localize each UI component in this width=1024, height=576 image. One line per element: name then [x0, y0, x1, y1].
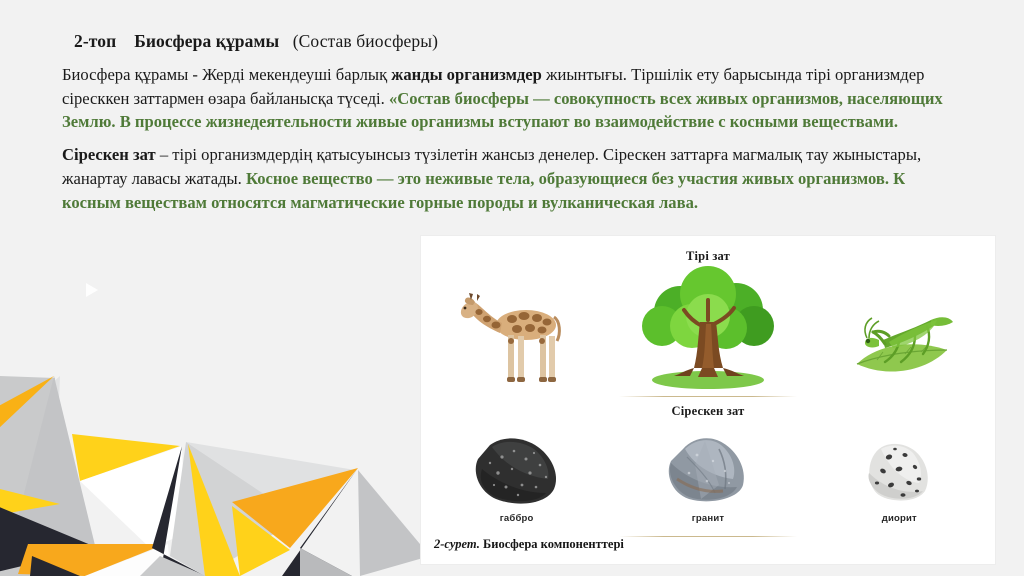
figure-caption-number: 2-сурет.: [434, 537, 480, 551]
group-label: 2-топ: [74, 31, 116, 51]
shard-grey-6: [300, 548, 352, 576]
shard-yellow-1: [0, 376, 54, 446]
shard-grey-2: [0, 376, 60, 576]
caption-diorite: диорит: [882, 513, 917, 524]
shard-yellow-2: [72, 434, 180, 481]
diorite-rock-icon: [857, 437, 941, 509]
divider-rule-middle: [619, 396, 797, 397]
shard-yellow-3: [0, 484, 60, 518]
play-triangle-marker: [86, 283, 98, 297]
shard-dark-2: [30, 556, 80, 576]
shard-grey-4: [170, 442, 300, 576]
shard-orange-1: [18, 544, 165, 576]
shard-grey-5: [358, 470, 430, 576]
shard-grey-7: [140, 556, 206, 576]
slide-canvas: 2-топ Биосфера құрамы (Состав биосферы) …: [0, 0, 1024, 576]
label-inert-matter: Сірескен зат: [421, 404, 995, 419]
paragraph-two: Сірескен зат – тірі организмдердің қатыс…: [62, 143, 967, 215]
divider-rule-bottom: [619, 536, 797, 537]
biosphere-figure-panel: Тірі зат: [421, 236, 995, 564]
polygon-art-svg: [0, 256, 430, 576]
shard-white-2: [85, 544, 170, 576]
shard-yellow-5: [232, 506, 290, 576]
figure-cell-mantis: [805, 294, 994, 393]
p1-segment-1: Биосфера құрамы - Жерді мекендеуші барлы…: [62, 65, 391, 84]
caption-granite: гранит: [692, 513, 724, 524]
title-kazakh: Биосфера құрамы: [134, 31, 279, 51]
slide-text-body: 2-топ Биосфера құрамы (Состав биосферы) …: [62, 30, 967, 218]
shard-dark-3: [152, 446, 205, 576]
praying-mantis-icon: [839, 294, 959, 389]
granite-rock-icon: [659, 433, 757, 509]
shard-grey-cone: [8, 376, 100, 566]
shard-orange-2: [232, 468, 358, 548]
caption-gabbro: габбро: [500, 513, 534, 524]
label-living-matter: Тірі зат: [421, 249, 995, 264]
shard-dark-1: [0, 499, 98, 576]
shard-white-1: [80, 446, 185, 548]
decorative-polygon-artwork: [0, 256, 430, 576]
p2-bold-1: Сірескен зат: [62, 145, 156, 164]
figure-caption-text: Биосфера компоненттері: [480, 537, 624, 551]
living-matter-row: [421, 268, 995, 393]
figure-cell-tree: [613, 264, 802, 393]
figure-cell-granite: гранит: [613, 433, 802, 524]
figure-cell-giraffe: [422, 277, 611, 393]
shard-grey-3: [186, 442, 355, 518]
figure-cell-diorite: диорит: [805, 437, 994, 524]
figure-cell-gabbro: габбро: [422, 433, 611, 524]
inert-matter-row: габбро гранит: [421, 424, 995, 524]
shard-yellow-4: [188, 444, 240, 576]
title-russian: (Состав биосферы): [293, 31, 438, 51]
shard-dark-4: [282, 468, 358, 576]
paragraph-one: Биосфера құрамы - Жерді мекендеуші барлы…: [62, 63, 967, 135]
tree-icon: [628, 264, 788, 389]
page-title: 2-топ Биосфера құрамы (Состав биосферы): [74, 30, 967, 54]
giraffe-icon: [454, 277, 579, 389]
gabbro-rock-icon: [468, 433, 566, 509]
p1-bold-1: жанды организмдер: [391, 65, 542, 84]
shard-grey-1: [0, 376, 60, 501]
figure-caption: 2-сурет. Биосфера компоненттері: [434, 537, 624, 552]
